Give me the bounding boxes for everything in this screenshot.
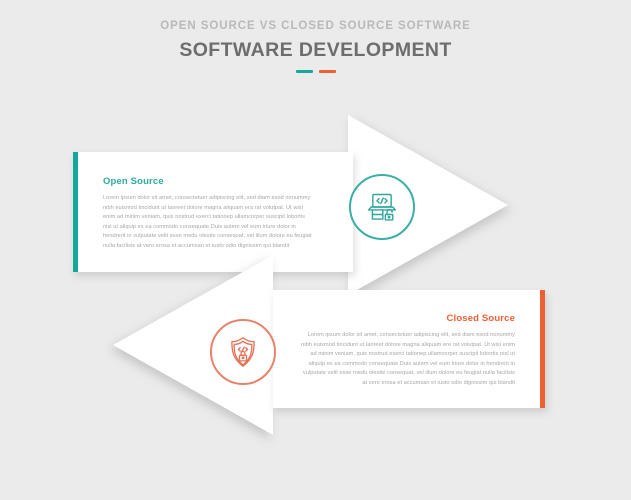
open-source-icon-circle[interactable] bbox=[349, 174, 415, 240]
header-accent-rules bbox=[0, 70, 631, 73]
accent-rule-teal bbox=[296, 70, 313, 73]
open-source-body: Lorem ipsum dolor sit amet, consectetuer… bbox=[103, 194, 315, 252]
closed-source-title: Closed Source bbox=[447, 313, 515, 324]
accent-rule-orange bbox=[319, 70, 336, 73]
open-source-arrow[interactable]: Open Source Lorem ipsum dolor sit amet, … bbox=[0, 0, 631, 500]
header: OPEN SOURCE VS CLOSED SOURCE SOFTWARE SO… bbox=[0, 20, 631, 73]
closed-source-body: Lorem ipsum dolor sit amet, consectetuer… bbox=[301, 331, 515, 389]
closed-source-icon-circle[interactable] bbox=[210, 319, 276, 385]
header-subtitle: OPEN SOURCE VS CLOSED SOURCE SOFTWARE bbox=[0, 20, 631, 34]
closed-source-card[interactable]: Closed Source Lorem ipsum dolor sit amet… bbox=[273, 290, 545, 408]
infographic-canvas: OPEN SOURCE VS CLOSED SOURCE SOFTWARE SO… bbox=[0, 0, 631, 500]
page-title: SOFTWARE DEVELOPMENT bbox=[0, 39, 631, 62]
open-source-title: Open Source bbox=[103, 176, 164, 187]
shield-code-lock-icon bbox=[224, 333, 262, 371]
laptop-code-unlock-icon bbox=[362, 187, 402, 227]
open-source-card[interactable]: Open Source Lorem ipsum dolor sit amet, … bbox=[73, 152, 353, 272]
